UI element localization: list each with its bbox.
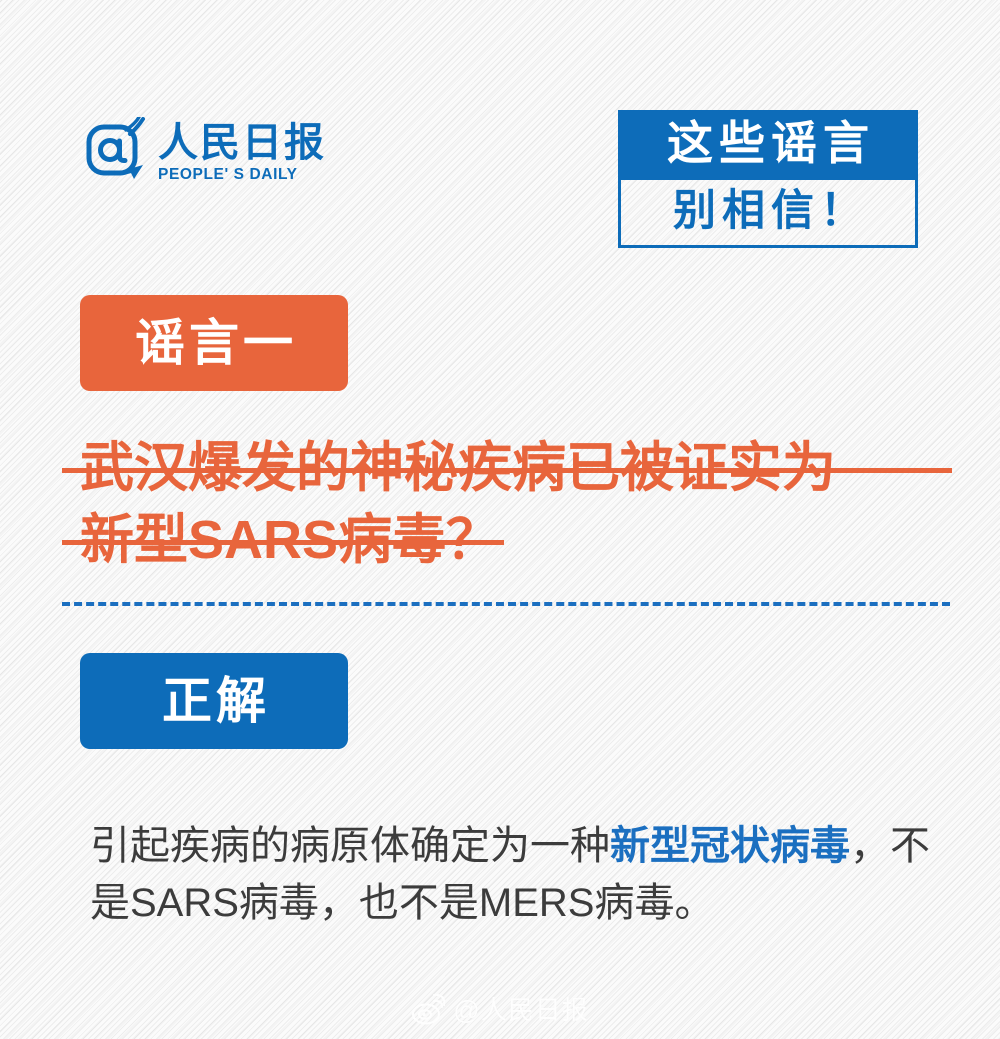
header-badge: 这些谣言 别相信！ <box>618 110 918 248</box>
logo-wordmark: 人民日报 PEOPLE' S DAILY <box>158 123 326 183</box>
weibo-watermark: @人民日报 <box>0 990 1000 1027</box>
answer-body-text: 引起疾病的病原体确定为一种新型冠状病毒，不是SARS病毒，也不是MERS病毒。 <box>90 818 930 932</box>
rumor-statement-line-2: 新型SARS病毒？ <box>80 504 960 576</box>
strikethrough-line-1 <box>62 468 952 473</box>
logo-chinese-name: 人民日报 <box>158 123 326 164</box>
people-daily-logo: 人民日报 PEOPLE' S DAILY <box>86 112 386 194</box>
logo-english-name: PEOPLE' S DAILY <box>158 166 326 183</box>
answer-text-part-1: 引起疾病的病原体确定为一种 <box>90 824 610 868</box>
rumor-statement-line-1: 武汉爆发的神秘疾病已被证实为 <box>80 432 960 504</box>
answer-badge: 正解 <box>80 653 348 749</box>
answer-badge-label: 正解 <box>158 676 270 726</box>
at-sign-signal-icon <box>86 117 152 189</box>
header-line-1: 这些谣言 <box>618 110 918 180</box>
header-line-2: 别相信！ <box>618 180 918 248</box>
rumor-badge: 谣言一 <box>80 295 348 391</box>
rumor-badge-label: 谣言一 <box>131 318 297 368</box>
dashed-divider <box>62 602 950 606</box>
rumor-statement: 武汉爆发的神秘疾病已被证实为 新型SARS病毒？ <box>80 432 960 576</box>
strikethrough-line-2 <box>62 540 504 545</box>
weibo-eye-icon <box>411 993 445 1025</box>
answer-highlight-term: 新型冠状病毒 <box>610 824 850 868</box>
weibo-watermark-text: @人民日报 <box>453 990 588 1027</box>
poster-canvas: 人民日报 PEOPLE' S DAILY 这些谣言 别相信！ 谣言一 武汉爆发的… <box>0 0 1000 1039</box>
